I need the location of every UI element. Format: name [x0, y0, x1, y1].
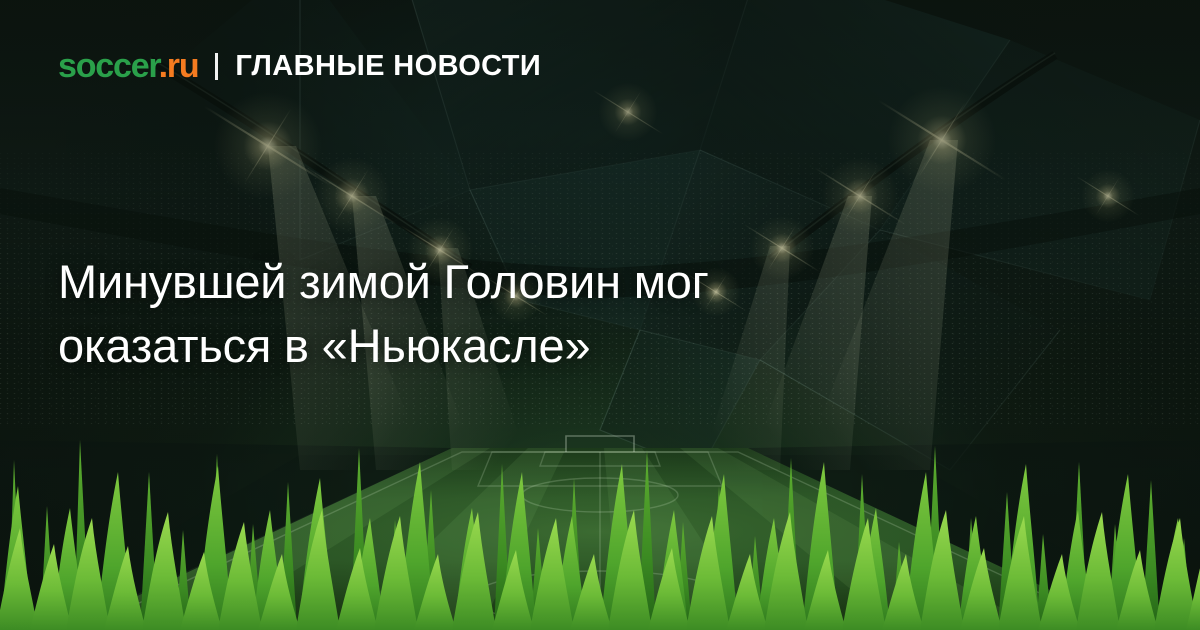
- logo-word: soccer: [58, 47, 159, 85]
- headline-line-1: Минувшей зимой Головин мог: [58, 250, 963, 314]
- logo-tld: .ru: [159, 47, 199, 85]
- page-title: Минувшей зимой Головин мог оказаться в «…: [58, 250, 963, 378]
- soccer-ru-logo[interactable]: soccer.ru: [58, 49, 198, 83]
- section-kicker: ГЛАВНЫЕ НОВОСТИ: [235, 52, 541, 81]
- site-header: soccer.ru ГЛАВНЫЕ НОВОСТИ: [58, 49, 541, 83]
- news-share-card: soccer.ru ГЛАВНЫЕ НОВОСТИ Минувшей зимой…: [0, 0, 1200, 630]
- header-divider: [215, 53, 218, 80]
- card-content: soccer.ru ГЛАВНЫЕ НОВОСТИ Минувшей зимой…: [0, 0, 1200, 630]
- headline-line-2: оказаться в «Ньюкасле»: [58, 314, 963, 378]
